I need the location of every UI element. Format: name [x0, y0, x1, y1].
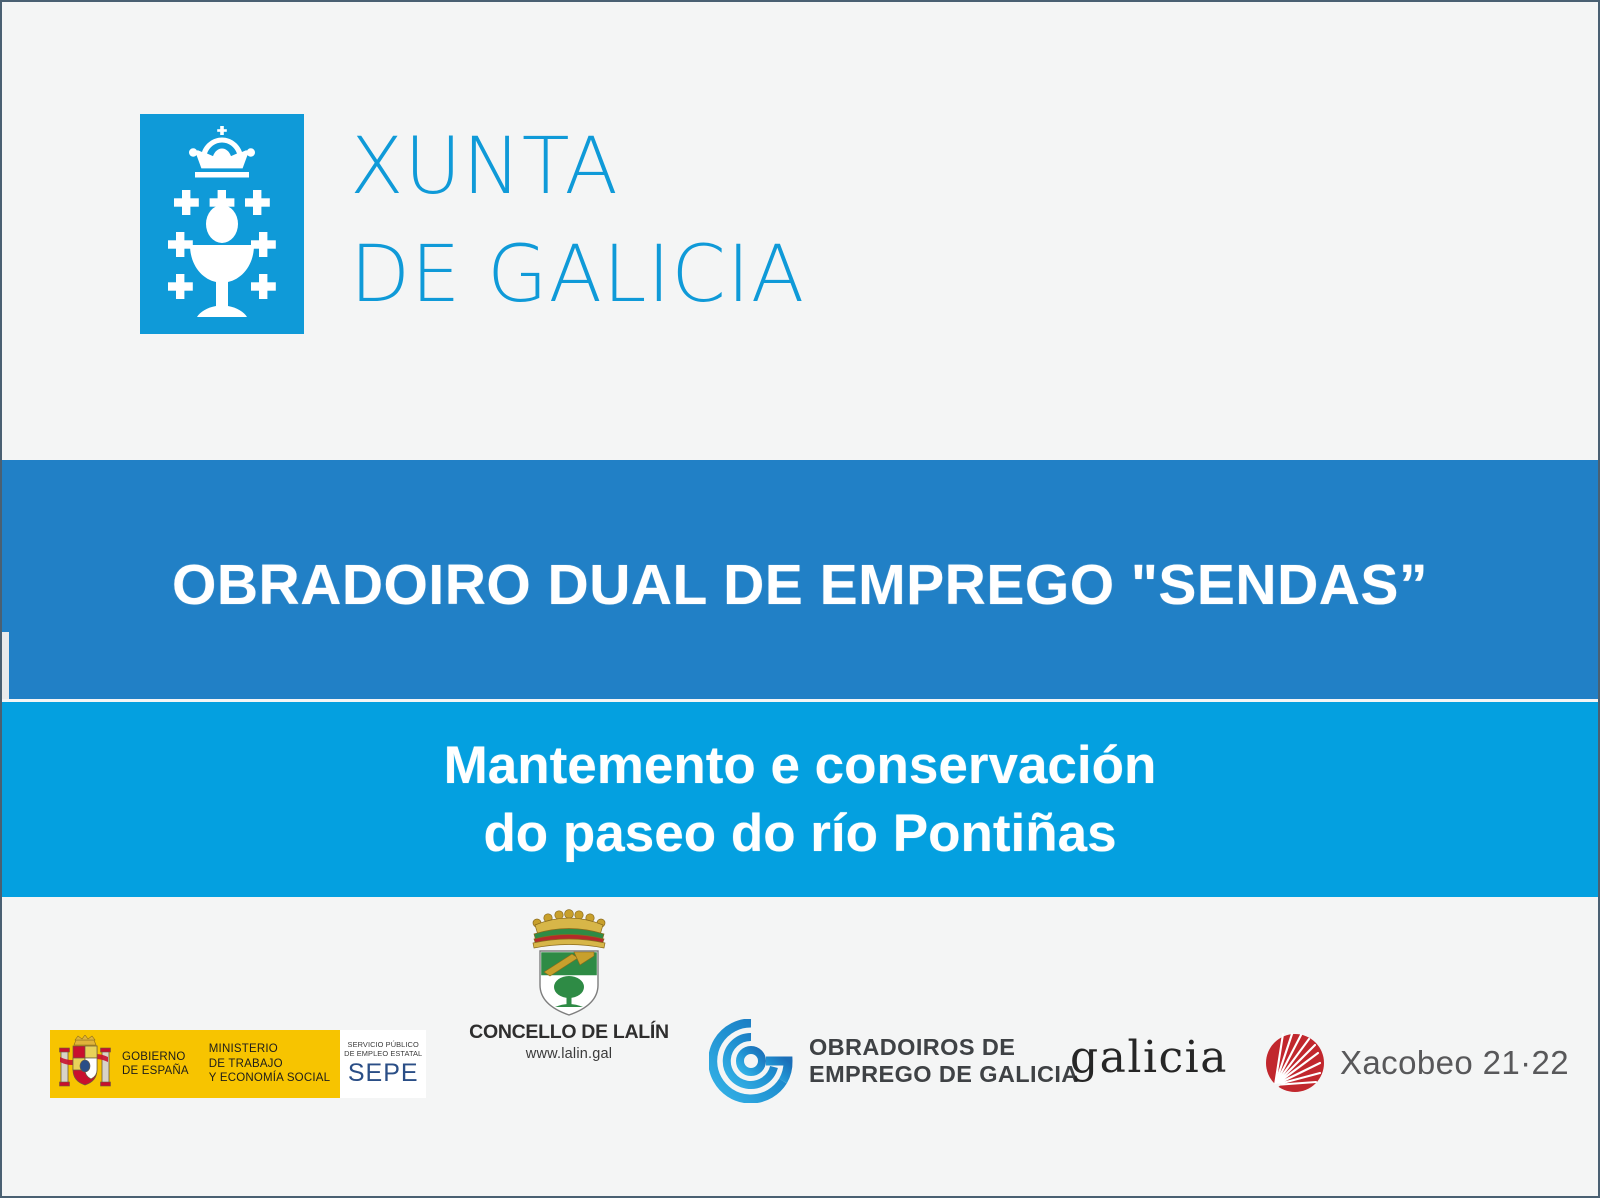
- gobierno-line2: DE ESPAÑA: [122, 1064, 189, 1078]
- xunta-coat-of-arms-icon: [140, 114, 304, 334]
- subtitle-banner: Mantemento e conservación do paseo do rí…: [2, 702, 1598, 897]
- galicia-wordmark: galicia: [1070, 1036, 1228, 1080]
- ministerio-line2: DE TRABAJO: [209, 1057, 330, 1071]
- sepe-line1: SERVICIO PÚBLICO: [348, 1040, 419, 1049]
- obradoiros-line2: EMPREGO DE GALICIA: [809, 1061, 1079, 1088]
- spain-coat-of-arms-icon: [58, 1035, 112, 1093]
- poster-root: XUNTA DE GALICIA OBRADOIRO DUAL DE EMPRE…: [0, 0, 1600, 1198]
- sepe-line2: DE EMPLEO ESTATAL: [344, 1049, 422, 1058]
- xunta-wordmark: XUNTA DE GALICIA: [350, 114, 805, 329]
- main-title-banner: OBRADOIRO DUAL DE EMPREGO "SENDAS”: [2, 460, 1598, 699]
- gobierno-de-espana-logo: ★★★: [50, 1030, 415, 1098]
- gobierno-de-espana-text: GOBIERNO DE ESPAÑA: [112, 1030, 199, 1098]
- xunta-de-galicia-logo: XUNTA DE GALICIA: [140, 114, 805, 334]
- ministerio-text: MINISTERIO DE TRABAJO Y ECONOMÍA SOCIAL: [199, 1030, 340, 1098]
- obradoiros-de-emprego-logo: OBRADOIROS DE EMPREGO DE GALICIA: [709, 1019, 1079, 1103]
- ministerio-line3: Y ECONOMÍA SOCIAL: [209, 1071, 330, 1085]
- obradoiros-text: OBRADOIROS DE EMPREGO DE GALICIA: [809, 1034, 1079, 1088]
- program-title: OBRADOIRO DUAL DE EMPREGO "SENDAS”: [2, 460, 1598, 699]
- obradoiros-line1: OBRADOIROS DE: [809, 1034, 1079, 1061]
- galicia-logo: galicia: [1070, 1036, 1228, 1080]
- sepe-logo: SERVICIO PÚBLICO DE EMPLEO ESTATAL SEPE: [340, 1030, 426, 1098]
- xunta-wordmark-line2: DE GALICIA: [350, 222, 805, 330]
- spiral-g-icon: [709, 1019, 793, 1103]
- ministerio-block: MINISTERIO DE TRABAJO Y ECONOMÍA SOCIAL: [199, 1030, 340, 1098]
- gobierno-block: GOBIERNO DE ESPAÑA: [50, 1030, 199, 1098]
- footer-section: ★★★: [2, 899, 1598, 1196]
- xacobeo-label: Xacobeo 21·22: [1340, 1044, 1569, 1082]
- lalin-coat-of-arms-icon: [511, 906, 627, 1018]
- sepe-acronym: SEPE: [348, 1059, 419, 1088]
- scallop-shell-icon: [1264, 1032, 1326, 1094]
- concello-de-lalin-name: CONCELLO DE LALÍN: [469, 1021, 669, 1044]
- footer-logo-strip: ★★★: [2, 1014, 1598, 1149]
- project-subtitle-line1: Mantemento e conservación: [444, 732, 1157, 800]
- header-section: XUNTA DE GALICIA: [2, 2, 1598, 458]
- project-subtitle-line2: do paseo do río Pontiñas: [483, 800, 1116, 868]
- xacobeo-logo: Xacobeo 21·22: [1264, 1032, 1569, 1094]
- concello-de-lalin-url[interactable]: www.lalin.gal: [526, 1046, 612, 1062]
- xunta-wordmark-line1: XUNTA: [350, 114, 805, 222]
- project-subtitle: Mantemento e conservación do paseo do rí…: [2, 702, 1598, 897]
- concello-de-lalin-logo: CONCELLO DE LALÍN www.lalin.gal: [479, 906, 659, 1062]
- ministerio-line1: MINISTERIO: [209, 1042, 330, 1056]
- gobierno-line1: GOBIERNO: [122, 1050, 189, 1064]
